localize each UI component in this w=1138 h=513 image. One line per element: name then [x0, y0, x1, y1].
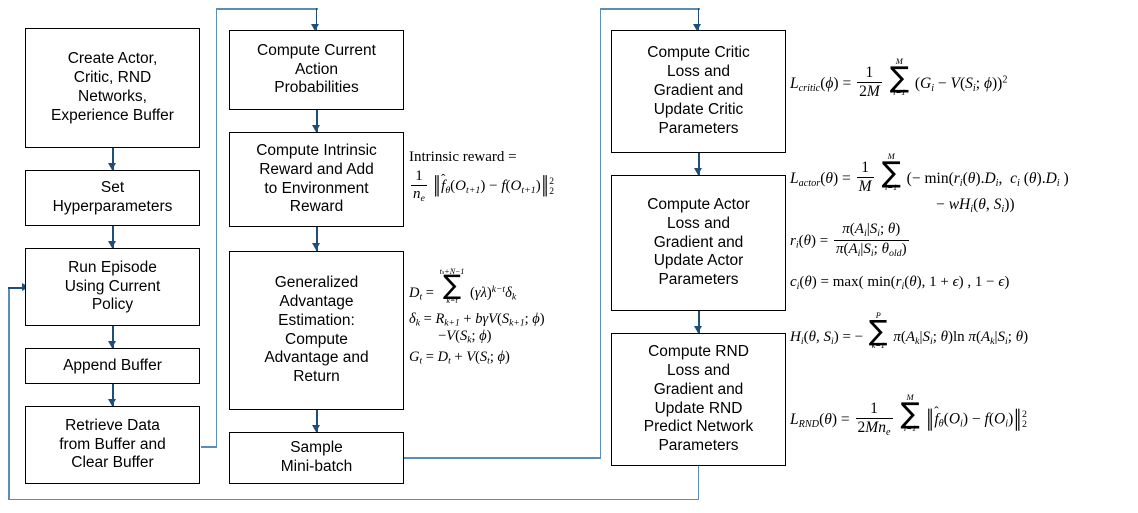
node-compute-intrinsic-reward[interactable]: Compute Intrinsic Reward and Add to Envi… — [229, 132, 404, 227]
node-sample-minibatch-label: Sample Mini-batch — [281, 439, 353, 477]
intrinsic-reward-formula: Intrinsic reward = 1ne ∥̂fθ(Ot+1) − f(Ot… — [409, 150, 554, 204]
node-compute-action-probs-label: Compute Current Action Probabilities — [257, 42, 376, 99]
entropy-formula: Hi(θ, Si) = − P∑k=1 π(Ak|Si; θ)ln π(Ak|S… — [790, 312, 1028, 350]
arrowhead-hyperparams-to-runepisode — [108, 241, 116, 248]
connector-retrieve-top-h — [216, 8, 318, 10]
node-run-episode[interactable]: Run Episode Using Current Policy — [25, 248, 200, 326]
node-gae-label: Generalized Advantage Estimation: Comput… — [264, 274, 368, 387]
node-append-buffer[interactable]: Append Buffer — [25, 348, 200, 384]
node-critic-update[interactable]: Compute Critic Loss and Gradient and Upd… — [611, 30, 786, 153]
node-rnd-update-label: Compute RND Loss and Gradient and Update… — [644, 343, 753, 456]
node-actor-update-label: Compute Actor Loss and Gradient and Upda… — [647, 196, 750, 291]
actor-loss-formula: Lactor(θ) = 1M M∑i=1 (− min(ri(θ).Di, ci… — [790, 152, 1069, 216]
node-gae[interactable]: Generalized Advantage Estimation: Comput… — [229, 251, 404, 410]
flowchart-canvas: Create Actor, Critic, RND Networks, Expe… — [0, 0, 1138, 513]
policy-ratio-formula: ri(θ) = π(Ai|Si; θ) π(Ai|Si; θold) — [790, 222, 911, 258]
arrowhead-actionprobs-to-intrinsic — [312, 125, 320, 132]
node-create-networks[interactable]: Create Actor, Critic, RND Networks, Expe… — [25, 28, 200, 148]
node-critic-update-label: Compute Critic Loss and Gradient and Upd… — [647, 44, 750, 139]
arrowhead-append-to-retrieve — [108, 399, 116, 406]
connector-loopback-bottom-h — [8, 499, 699, 501]
arrowhead-gae-to-sample — [312, 425, 320, 432]
node-set-hyperparameters-label: Set Hyperparameters — [53, 179, 173, 217]
arrowhead-intrinsic-to-gae — [312, 243, 320, 250]
arrowhead-actor-to-rnd — [694, 326, 702, 333]
node-compute-action-probs[interactable]: Compute Current Action Probabilities — [229, 30, 404, 110]
node-sample-minibatch[interactable]: Sample Mini-batch — [229, 432, 404, 484]
node-retrieve-data-label: Retrieve Data from Buffer and Clear Buff… — [59, 417, 166, 474]
arrowhead-runepisode-to-append — [108, 341, 116, 348]
node-append-buffer-label: Append Buffer — [63, 357, 162, 376]
intrinsic-reward-caption: Intrinsic reward = — [409, 150, 554, 165]
arrowhead-critic-to-actor — [694, 168, 702, 175]
gae-formulas: Dt = ts+N−1 ∑ k=t (γλ)k−tδk δk = Rk+1 + … — [409, 268, 545, 366]
connector-sample-top-h — [600, 8, 700, 10]
critic-loss-formula: Lcritic(ϕ) = 12M M∑i=1 (Gi − V(Si; ϕ))2 — [790, 57, 1007, 99]
connector-retrieve-up-v — [216, 8, 218, 448]
node-run-episode-label: Run Episode Using Current Policy — [65, 259, 161, 316]
node-actor-update[interactable]: Compute Actor Loss and Gradient and Upda… — [611, 175, 786, 311]
clipped-ratio-formula: ci(θ) = max( min(ri(θ), 1 + ϵ) , 1 − ϵ) — [790, 275, 1009, 292]
node-create-networks-label: Create Actor, Critic, RND Networks, Expe… — [51, 50, 174, 126]
connector-sample-out-h — [404, 457, 601, 459]
node-set-hyperparameters[interactable]: Set Hyperparameters — [25, 170, 200, 226]
node-rnd-update[interactable]: Compute RND Loss and Gradient and Update… — [611, 333, 786, 466]
connector-rnd-down-v — [698, 466, 700, 500]
node-retrieve-data[interactable]: Retrieve Data from Buffer and Clear Buff… — [25, 406, 200, 484]
rnd-loss-formula: LRND(θ) = 12Mne M∑i=1 ∥̂fθ(Oi) − f(Oi)∥2… — [790, 393, 1027, 438]
node-compute-intrinsic-reward-label: Compute Intrinsic Reward and Add to Envi… — [256, 142, 377, 218]
connector-sample-up-v — [600, 8, 602, 459]
arrowhead-create-to-hyperparams — [108, 163, 116, 170]
connector-loopback-left-v — [8, 287, 10, 499]
